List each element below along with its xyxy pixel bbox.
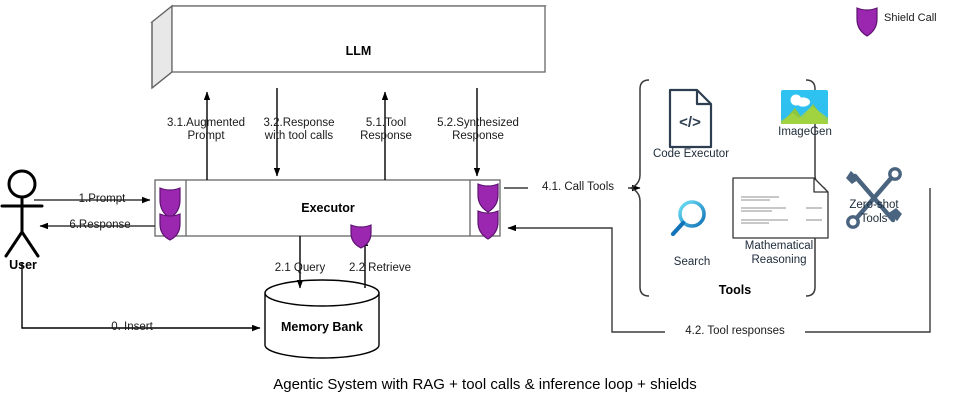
edge-label-21-query: 2.1 Query bbox=[258, 262, 342, 275]
shield-icon-legend bbox=[857, 8, 877, 36]
diagram-caption: Agentic System with RAG + tool calls & i… bbox=[0, 376, 970, 393]
llm-label: LLM bbox=[172, 44, 545, 58]
tool-caption-search: Search bbox=[662, 256, 722, 270]
edge-label-52-synthesized-response: 5.2.Synthesized Response bbox=[421, 117, 535, 143]
legend-shield-label: Shield Call bbox=[884, 12, 937, 24]
edge-label-6-response: 6.Response bbox=[46, 219, 154, 232]
edge-label-1-prompt: 1.Prompt bbox=[52, 193, 152, 206]
edge-0-insert bbox=[22, 262, 260, 328]
user-actor bbox=[2, 171, 42, 256]
code-document-icon: </> bbox=[670, 90, 711, 147]
edge-label-0-insert: 0. Insert bbox=[72, 321, 192, 334]
executor-label: Executor bbox=[186, 201, 470, 215]
memory-bank-label: Memory Bank bbox=[265, 320, 379, 334]
tool-caption-imagegen: ImageGen bbox=[769, 126, 841, 140]
edge-label-51-tool-response: 5.1.Tool Response bbox=[340, 117, 432, 143]
shield-icon bbox=[351, 225, 371, 248]
tools-group-label: Tools bbox=[690, 283, 780, 297]
tool-caption-code-executor: Code Executor bbox=[646, 148, 736, 162]
svg-text:</>: </> bbox=[679, 114, 701, 131]
formula-document-icon bbox=[733, 178, 828, 238]
edge-label-22-retrieve: 2.2 Retrieve bbox=[331, 262, 429, 275]
memory-bank-node bbox=[265, 280, 379, 358]
image-thumbnail-icon bbox=[781, 90, 828, 124]
edge-label-41-call-tools: 4.1. Call Tools bbox=[528, 181, 628, 194]
tool-caption-mathematical-reasoning: Mathematical Reasoning bbox=[727, 240, 831, 267]
tool-caption-zero-shot-tools: Zero-shot Tools bbox=[836, 199, 912, 226]
magnifier-icon bbox=[673, 202, 704, 234]
user-label: User bbox=[0, 258, 46, 272]
edge-label-42-tool-responses: 4.2. Tool responses bbox=[665, 325, 805, 338]
